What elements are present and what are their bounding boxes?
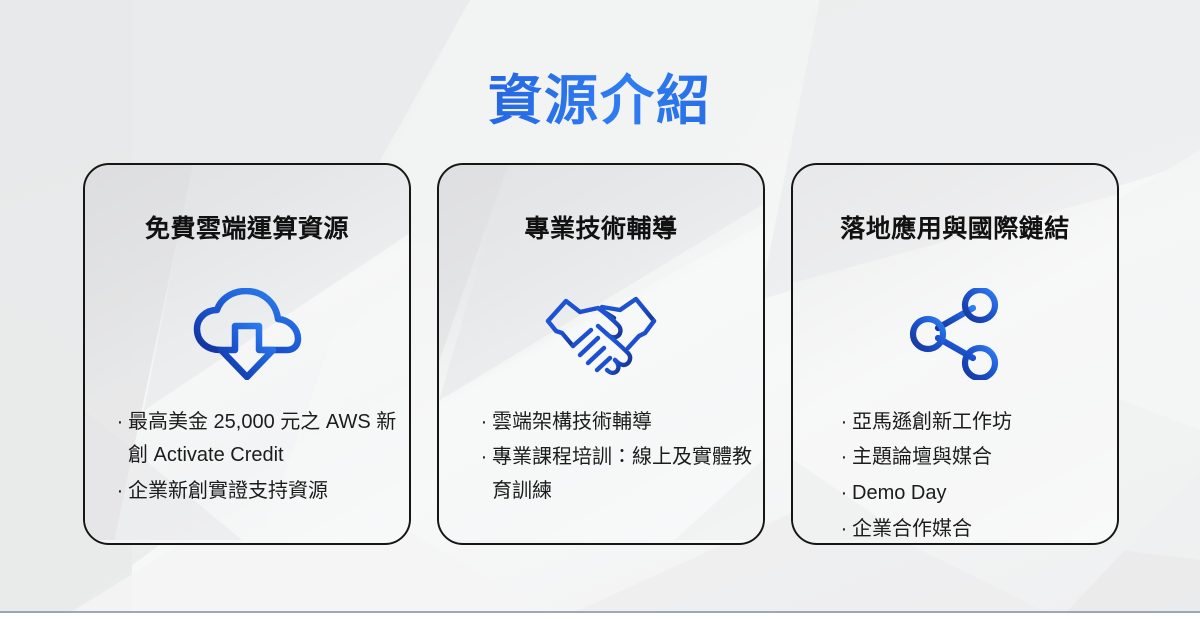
list-item: · Demo Day	[836, 477, 1119, 511]
card-bullet-list: · 最高美金 25,000 元之 AWS 新創 Activate Credit …	[88, 406, 406, 511]
bullet-marker: ·	[476, 441, 492, 475]
list-item: · 最高美金 25,000 元之 AWS 新創 Activate Credit	[112, 406, 400, 473]
card-bullet-list: · 雲端架構技術輔導 · 專業課程培訓：線上及實體教育訓練	[437, 406, 765, 511]
bullet-marker: ·	[836, 477, 852, 511]
list-item: · 主題論壇與媒合	[836, 441, 1119, 475]
handshake-icon	[542, 288, 660, 380]
bullet-text: 亞馬遜創新工作坊	[852, 406, 1119, 440]
cards-row: 免費雲端運算資源 ·	[83, 163, 1119, 545]
list-item: · 企業合作媒合	[836, 513, 1119, 545]
bullet-text: 雲端架構技術輔導	[492, 406, 764, 440]
card-local-application-global-link[interactable]: 落地應用與國際鏈結	[791, 163, 1119, 545]
card-heading: 落地應用與國際鏈結	[840, 214, 1070, 245]
bullet-text: Demo Day	[852, 477, 1119, 511]
bullet-text: 企業新創實證支持資源	[128, 475, 400, 509]
list-item: · 企業新創實證支持資源	[112, 475, 400, 509]
cloud-download-icon	[191, 288, 303, 380]
card-heading: 免費雲端運算資源	[145, 214, 349, 245]
card-professional-tech-guidance[interactable]: 專業技術輔導	[437, 163, 765, 545]
page-title: 資源介紹	[0, 72, 1200, 131]
bullet-marker: ·	[112, 406, 128, 440]
bullet-text: 主題論壇與媒合	[852, 441, 1119, 475]
card-free-cloud-resources[interactable]: 免費雲端運算資源 ·	[83, 163, 411, 545]
share-network-icon	[907, 288, 1003, 380]
bullet-marker: ·	[476, 406, 492, 440]
card-bullet-list: · 亞馬遜創新工作坊 · 主題論壇與媒合 · Demo Day · 企業合作媒合…	[791, 406, 1119, 545]
bottom-white-strip	[0, 613, 1200, 619]
bullet-marker: ·	[112, 475, 128, 509]
bullet-text: 最高美金 25,000 元之 AWS 新創 Activate Credit	[128, 406, 400, 473]
card-heading: 專業技術輔導	[524, 214, 677, 245]
list-item: · 雲端架構技術輔導	[476, 406, 764, 440]
bullet-marker: ·	[836, 406, 852, 440]
list-item: · 專業課程培訓：線上及實體教育訓練	[476, 441, 764, 508]
bullet-marker: ·	[836, 441, 852, 475]
bullet-marker: ·	[836, 513, 852, 545]
bullet-text: 專業課程培訓：線上及實體教育訓練	[492, 441, 764, 508]
list-item: · 亞馬遜創新工作坊	[836, 406, 1119, 440]
slide-resource-introduction: 資源介紹 免費雲端運算資源	[0, 0, 1200, 619]
bullet-text: 企業合作媒合	[852, 513, 1119, 545]
